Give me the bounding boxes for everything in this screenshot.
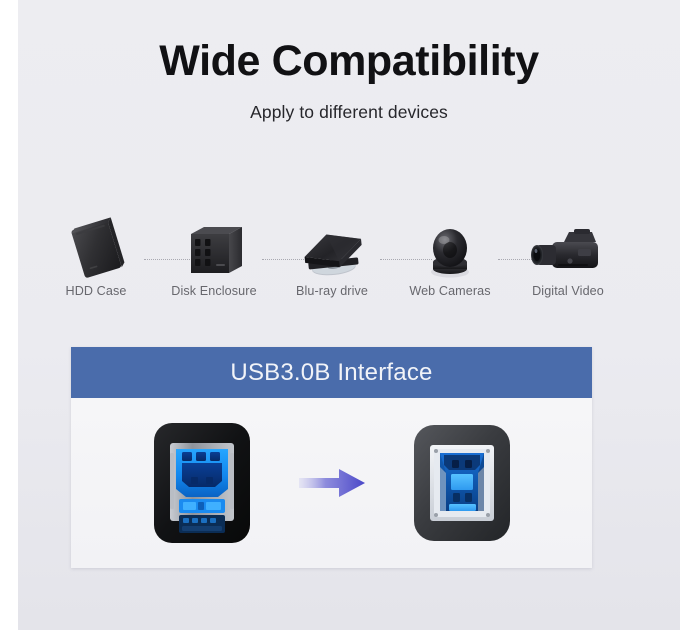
page-subtitle: Apply to different devices bbox=[18, 102, 680, 123]
device-item-disk-enclosure: Disk Enclosure bbox=[158, 212, 270, 317]
interface-card: USB3.0B Interface bbox=[71, 347, 592, 568]
device-label: Web Cameras bbox=[394, 284, 506, 298]
page-title: Wide Compatibility bbox=[18, 38, 680, 84]
header-block: Wide Compatibility Apply to different de… bbox=[18, 38, 680, 123]
hdd-case-icon bbox=[40, 212, 152, 284]
connector-left-slot bbox=[127, 419, 277, 547]
transition-arrow-slot bbox=[277, 466, 387, 500]
product-infographic: Wide Compatibility Apply to different de… bbox=[0, 0, 680, 630]
device-item-digital-video: Digital Video bbox=[512, 212, 624, 317]
compatible-devices-strip: HDD Case bbox=[40, 212, 660, 317]
usb3-b-port-icon bbox=[409, 419, 515, 547]
device-item-web-cameras: Web Cameras bbox=[394, 212, 506, 317]
device-label: HDD Case bbox=[40, 284, 152, 298]
right-arrow-icon bbox=[295, 466, 369, 500]
interface-card-title: USB3.0B Interface bbox=[230, 359, 432, 387]
connector-right-slot bbox=[387, 419, 537, 547]
usb3-b-plug-icon bbox=[149, 419, 255, 547]
interface-card-banner: USB3.0B Interface bbox=[71, 347, 592, 398]
device-label: Digital Video bbox=[512, 284, 624, 298]
content-canvas: Wide Compatibility Apply to different de… bbox=[18, 0, 680, 630]
device-label: Disk Enclosure bbox=[158, 284, 270, 298]
web-camera-icon bbox=[394, 212, 506, 284]
disk-enclosure-icon bbox=[158, 212, 270, 284]
device-item-bluray-drive: Blu-ray drive bbox=[276, 212, 388, 317]
bluray-drive-icon bbox=[276, 212, 388, 284]
device-item-hdd-case: HDD Case bbox=[40, 212, 152, 317]
camcorder-icon bbox=[512, 212, 624, 284]
device-label: Blu-ray drive bbox=[276, 284, 388, 298]
interface-card-body bbox=[71, 398, 592, 568]
